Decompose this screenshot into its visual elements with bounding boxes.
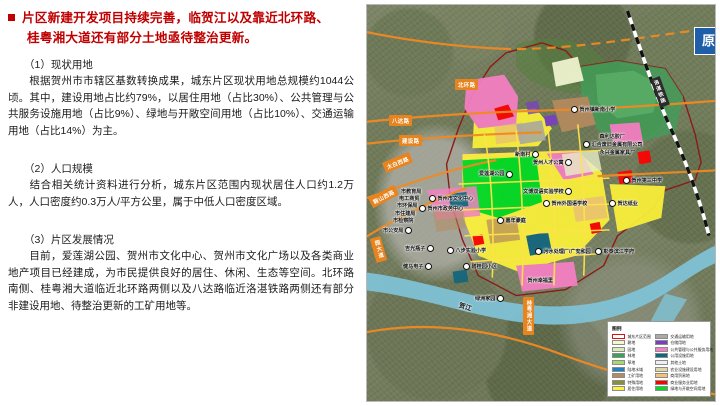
poi-dot-icon (463, 263, 470, 270)
legend-swatch (655, 340, 668, 345)
poi-dot-icon (447, 247, 454, 254)
legend-label: 陆地水域 (628, 367, 644, 372)
legend-item: 林地 (612, 353, 651, 358)
legend-label: 交通运输用地 (670, 334, 693, 339)
section-3-text: 目前，爱莲湖公园、贺州市文化中心、贺州市文化广场以及各类商业地产项目已经建成，为… (8, 250, 354, 312)
legend-title: 图例 (612, 325, 707, 332)
poi-marker[interactable]: 贺州市文化中心 (429, 195, 473, 202)
poi-marker[interactable]: 贺州镇新南小学 (571, 106, 615, 113)
legend-item: 公共管理与公共服务用地 (655, 347, 713, 352)
legend-item: 仓储用地 (655, 340, 713, 345)
poi-marker[interactable]: 电工商贸 (399, 195, 428, 202)
slide-headline: 片区新建开发项目持续完善，临贺江以及靠近北环路、 桂粤湘大道还有部分土地亟待整治… (8, 8, 354, 48)
poi-marker[interactable]: 吉光瓶子 (405, 245, 434, 252)
section-1-heading: （1）现状用地 (8, 57, 354, 73)
poi-marker[interactable]: 市公安局 (383, 227, 412, 234)
legend-label: 工矿用地 (628, 373, 644, 378)
legend-label: 居住用地 (628, 386, 644, 391)
legend-columns: 城东片区范围 耕地 园地 林地 草地 陆地水域 工矿用地 特殊用地 居住用地 交… (612, 334, 707, 393)
legend-label: 农业设施建设用地 (670, 367, 701, 372)
legend-item: 特殊用地 (612, 380, 651, 385)
poi-marker[interactable]: 八步实验小学 (447, 247, 486, 254)
headline-line-2: 桂粤湘大道还有部分土地亟待整治更新。 (8, 28, 354, 48)
slide-text-column: 片区新建开发项目持续完善，临贺江以及靠近北环路、 桂粤湘大道还有部分土地亟待整治… (0, 0, 360, 406)
legend-swatch (612, 347, 625, 352)
legend-item: 其他土地 (655, 360, 713, 365)
legend-label: 公共管理与公共服务用地 (670, 347, 713, 352)
section-1: （1）现状用地 根据贺州市市辖区基数转换成果，城东片区现状用地总规模约1044公… (8, 57, 354, 139)
legend-swatch (655, 373, 668, 378)
poi-label: 彰泰滨江学府 (604, 249, 635, 255)
legend-item: 公用设施用地 (655, 353, 713, 358)
legend-swatch (655, 334, 668, 339)
poi-marker[interactable]: 嘉年豪庭 (497, 217, 526, 224)
poi-label: 市住建局 (395, 211, 415, 217)
legend-item: 交通运输用地 (655, 334, 713, 339)
legend-label: 仓储用地 (670, 340, 686, 345)
poi-dot-icon (497, 295, 504, 302)
legend-label: 城东片区范围 (628, 334, 651, 339)
poi-marker[interactable]: 文博双语实验学校 (523, 188, 572, 195)
road-label-badalu: 八达路 (389, 115, 412, 126)
poi-label: 贺州外国语学校 (552, 201, 588, 207)
poi-label: 贺州镇新南小学 (580, 107, 616, 113)
poi-marker[interactable]: 污水处理厂/广安和园 (535, 248, 591, 255)
map-canvas: 北环路 八达路 建设路 太白西路 鞍山西路 园大道 桂粤湘大道 洛湛铁路 贺江 … (367, 5, 715, 401)
poi-dot-icon (535, 248, 542, 255)
poi-label: 嘉年豪庭 (506, 218, 526, 224)
poi-marker[interactable]: 新南村 (515, 151, 539, 158)
poi-label: 汇合废旧金属有限公司 (592, 142, 643, 148)
poi-dot-icon (497, 217, 504, 224)
side-banner: 原 (694, 27, 716, 55)
poi-marker[interactable]: 彰泰滨江学府 (595, 248, 634, 255)
section-2-text: 结合相关统计资料进行分析，城东片区范围内现状居住人口约1.2万人，人口密度约0.… (8, 179, 354, 208)
legend-item: 陆地水域 (612, 367, 651, 372)
land-use-map[interactable]: 北环路 八达路 建设路 太白西路 鞍山西路 园大道 桂粤湘大道 洛湛铁路 贺江 … (366, 4, 716, 402)
section-1-paragraph: 根据贺州市市辖区基数转换成果，城东片区现状用地总规模约1044公顷。其中，建设用… (8, 73, 354, 139)
poi-marker[interactable]: 贺达纸业 (609, 200, 638, 207)
poi-label: 贺达纸业 (618, 201, 638, 207)
road-label-guiyuexiang-dadao: 桂粤湘大道 (523, 297, 534, 335)
poi-marker[interactable]: 市教育局 (401, 188, 430, 195)
poi-dot-icon (571, 106, 578, 113)
legend-swatch (612, 386, 625, 391)
legend-swatch (612, 360, 625, 365)
road-label-jianshelu: 建设路 (399, 135, 422, 146)
legend-column-1: 城东片区范围 耕地 园地 林地 草地 陆地水域 工矿用地 特殊用地 居住用地 (612, 334, 651, 393)
poi-dot-icon (405, 227, 412, 234)
section-1-text: 根据贺州市市辖区基数转换成果，城东片区现状用地总规模约1044公顷。其中，建设用… (8, 75, 354, 137)
poi-label: 吉光瓶子 (405, 246, 425, 252)
legend-label: 草地 (628, 360, 636, 365)
legend-swatch (655, 386, 668, 391)
poi-marker[interactable]: 市检察院 (393, 217, 422, 224)
poi-label: 健马电子 (403, 264, 423, 270)
legend-item: 商业服务业用地 (655, 380, 713, 385)
legend-label: 公用设施用地 (670, 353, 693, 358)
poi-label: 贺州幸福里 (528, 278, 553, 284)
legend-label: 商业服务业用地 (670, 380, 697, 385)
poi-label: 八步实验小学 (456, 248, 487, 254)
section-2-paragraph: 结合相关统计资料进行分析，城东片区范围内现状居住人口约1.2万人，人口密度约0.… (8, 177, 354, 210)
legend-swatch (655, 367, 668, 372)
legend-label: 园地 (628, 347, 636, 352)
poi-dot-icon (427, 245, 434, 252)
poi-marker[interactable]: 绿洲家园 (475, 295, 504, 302)
section-3-paragraph: 目前，爱莲湖公园、贺州市文化中心、贺州市文化广场以及各类商业地产项目已经建成，为… (8, 248, 354, 314)
spacer-2 (8, 210, 354, 223)
legend-item: 绿地与开敞空间用地 (655, 386, 713, 391)
legend-swatch (612, 340, 625, 345)
headline-line-1: 片区新建开发项目持续完善，临贺江以及靠近北环路、 (22, 11, 329, 25)
legend-label: 特殊用地 (628, 380, 644, 385)
poi-label: 市检察院 (393, 218, 413, 224)
poi-marker[interactable]: 碧桂园小区 (463, 263, 497, 270)
poi-marker[interactable]: 爱莲湖公园 (479, 171, 513, 178)
legend-item: 草地 (612, 360, 651, 365)
poi-label: 森利达胶厂 (600, 134, 625, 140)
legend-item: 农业设施建设用地 (655, 367, 713, 372)
legend-swatch (655, 353, 668, 358)
spacer-1 (8, 139, 354, 152)
legend-column-2: 交通运输用地 仓储用地 公共管理与公共服务用地 公用设施用地 其他土地 农业设施… (655, 334, 713, 393)
poi-marker[interactable]: 市住建局 (395, 210, 424, 217)
poi-dot-icon (506, 171, 513, 178)
legend-label: 商用贸易地 (670, 373, 689, 378)
poi-dot-icon (425, 263, 432, 270)
poi-marker[interactable]: 贺州人才公寓 (533, 159, 572, 166)
poi-label: 永兴金属家具厂 (600, 150, 636, 156)
poi-marker[interactable]: 贺州幸福里 (519, 277, 553, 284)
poi-marker[interactable]: 汇合废旧金属有限公司 (583, 141, 642, 148)
poi-label: 绿洲家园 (475, 296, 495, 302)
poi-label: 碧桂园小区 (472, 264, 497, 270)
legend-label: 绿地与开敞空间用地 (670, 386, 705, 391)
legend-item: 城东片区范围 (612, 334, 651, 339)
section-2: （2）人口规模 结合相关统计资料进行分析，城东片区范围内现状居住人口约1.2万人… (8, 161, 354, 210)
poi-label: 电工商贸 (399, 196, 419, 202)
legend-label: 耕地 (628, 340, 636, 345)
map-legend: 图例 城东片区范围 耕地 园地 林地 草地 陆地水域 工矿用地 特殊用地 居住用… (607, 321, 711, 397)
legend-label: 其他土地 (670, 360, 686, 365)
poi-label: 污水处理厂/广安和园 (544, 249, 591, 255)
poi-label: 爱莲湖公园 (479, 172, 504, 178)
legend-swatch (612, 373, 625, 378)
legend-swatch (612, 334, 625, 339)
bullet-square-icon (8, 14, 15, 21)
legend-swatch (612, 380, 625, 385)
legend-item: 工矿用地 (612, 373, 651, 378)
section-3-heading: （3）片区发展情况 (8, 232, 354, 248)
legend-swatch (655, 380, 668, 385)
poi-marker[interactable]: 健马电子 (403, 263, 432, 270)
poi-marker[interactable]: 永兴金属家具厂 (591, 149, 635, 156)
poi-dot-icon (623, 177, 630, 184)
legend-item: 商用贸易地 (655, 373, 713, 378)
legend-swatch (612, 367, 625, 372)
poi-dot-icon (565, 188, 572, 195)
legend-item: 耕地 (612, 340, 651, 345)
poi-label: 市环保局 (397, 203, 417, 209)
legend-swatch (655, 347, 668, 352)
poi-marker[interactable]: 贺州第三中学 (623, 177, 662, 184)
poi-label: 贺州市文化中心 (438, 196, 474, 202)
poi-label: 文博双语实验学校 (523, 189, 564, 195)
poi-label: 贺州市政务中心 (428, 206, 464, 212)
poi-label: 市教育局 (401, 189, 421, 195)
poi-marker[interactable]: 森利达胶厂 (591, 133, 625, 140)
poi-marker[interactable]: 贺州市政务中心 (419, 205, 463, 212)
legend-item: 居住用地 (612, 386, 651, 391)
poi-label: 市公安局 (383, 228, 403, 234)
legend-item: 园地 (612, 347, 651, 352)
poi-dot-icon (532, 151, 539, 158)
poi-marker[interactable]: 贺州外国语学校 (543, 200, 587, 207)
poi-dot-icon (429, 195, 436, 202)
section-2-heading: （2）人口规模 (8, 161, 354, 177)
legend-swatch (612, 353, 625, 358)
poi-label: 新南村 (515, 152, 530, 158)
poi-label: 贺州第三中学 (632, 178, 663, 184)
poi-label: 贺州人才公寓 (533, 160, 564, 166)
poi-dot-icon (543, 200, 550, 207)
poi-dot-icon (609, 200, 616, 207)
poi-dot-icon (565, 159, 572, 166)
legend-label: 林地 (628, 353, 636, 358)
legend-swatch (655, 360, 668, 365)
section-3: （3）片区发展情况 目前，爱莲湖公园、贺州市文化中心、贺州市文化广场以及各类商业… (8, 232, 354, 314)
poi-dot-icon (583, 141, 590, 148)
poi-dot-icon (595, 248, 602, 255)
road-label-beihuan: 北环路 (455, 79, 478, 90)
